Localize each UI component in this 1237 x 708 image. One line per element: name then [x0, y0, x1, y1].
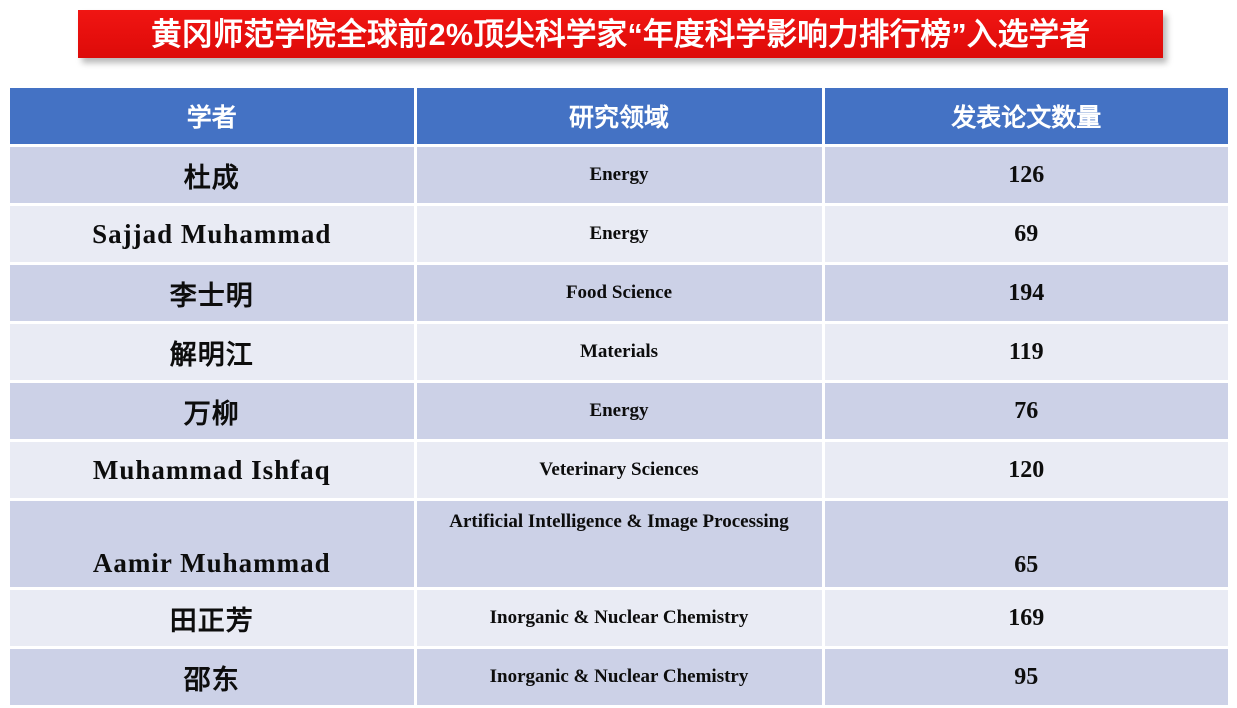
scholars-table: 学者 研究领域 发表论文数量 杜成 Energy 126 Sajjad Muha…	[10, 88, 1228, 708]
cell-papers: 76	[823, 382, 1228, 441]
table-row: Muhammad Ishfaq Veterinary Sciences 120	[10, 441, 1228, 500]
slide-root: 黄冈师范学院全球前2%顶尖科学家“年度科学影响力排行榜”入选学者 学者 研究领域…	[0, 0, 1237, 672]
table-row: 解明江 Materials 119	[10, 323, 1228, 382]
cell-papers: 169	[823, 589, 1228, 648]
table-row: 万柳 Energy 76	[10, 382, 1228, 441]
cell-papers: 95	[823, 648, 1228, 707]
cell-field: Food Science	[415, 264, 823, 323]
table-header-row: 学者 研究领域 发表论文数量	[10, 88, 1228, 146]
column-header-papers: 发表论文数量	[823, 88, 1228, 146]
cell-scholar: 李士明	[10, 264, 415, 323]
table-row: 田正芳 Inorganic & Nuclear Chemistry 169	[10, 589, 1228, 648]
cell-scholar: 解明江	[10, 323, 415, 382]
cell-papers: 194	[823, 264, 1228, 323]
cell-scholar: 杜成	[10, 146, 415, 205]
cell-field: Inorganic & Nuclear Chemistry	[415, 589, 823, 648]
title-banner: 黄冈师范学院全球前2%顶尖科学家“年度科学影响力排行榜”入选学者	[78, 10, 1163, 58]
cell-papers: 126	[823, 146, 1228, 205]
cell-papers: 120	[823, 441, 1228, 500]
scholars-table-container: 学者 研究领域 发表论文数量 杜成 Energy 126 Sajjad Muha…	[10, 88, 1228, 672]
page-title: 黄冈师范学院全球前2%顶尖科学家“年度科学影响力排行榜”入选学者	[151, 19, 1090, 50]
cell-field: Veterinary Sciences	[415, 441, 823, 500]
cell-scholar: Muhammad Ishfaq	[10, 441, 415, 500]
cell-field: Energy	[415, 382, 823, 441]
cell-field: Materials	[415, 323, 823, 382]
cell-papers: 119	[823, 323, 1228, 382]
table-row: 李士明 Food Science 194	[10, 264, 1228, 323]
cell-field: Energy	[415, 205, 823, 264]
cell-field: Energy	[415, 146, 823, 205]
cell-papers: 69	[823, 205, 1228, 264]
cell-field: Inorganic & Nuclear Chemistry	[415, 648, 823, 707]
cell-scholar: 万柳	[10, 382, 415, 441]
cell-scholar: 田正芳	[10, 589, 415, 648]
table-row: Aamir Muhammad Artificial Intelligence &…	[10, 500, 1228, 589]
cell-scholar: Sajjad Muhammad	[10, 205, 415, 264]
column-header-scholar: 学者	[10, 88, 415, 146]
table-row: 杜成 Energy 126	[10, 146, 1228, 205]
table-row: Sajjad Muhammad Energy 69	[10, 205, 1228, 264]
cell-field: Artificial Intelligence & Image Processi…	[415, 500, 823, 589]
cell-papers: 65	[823, 500, 1228, 589]
table-row: 邵东 Inorganic & Nuclear Chemistry 95	[10, 648, 1228, 707]
cell-scholar: Aamir Muhammad	[10, 500, 415, 589]
table-body: 杜成 Energy 126 Sajjad Muhammad Energy 69 …	[10, 146, 1228, 707]
column-header-field: 研究领域	[415, 88, 823, 146]
cell-scholar: 邵东	[10, 648, 415, 707]
table-header: 学者 研究领域 发表论文数量	[10, 88, 1228, 146]
